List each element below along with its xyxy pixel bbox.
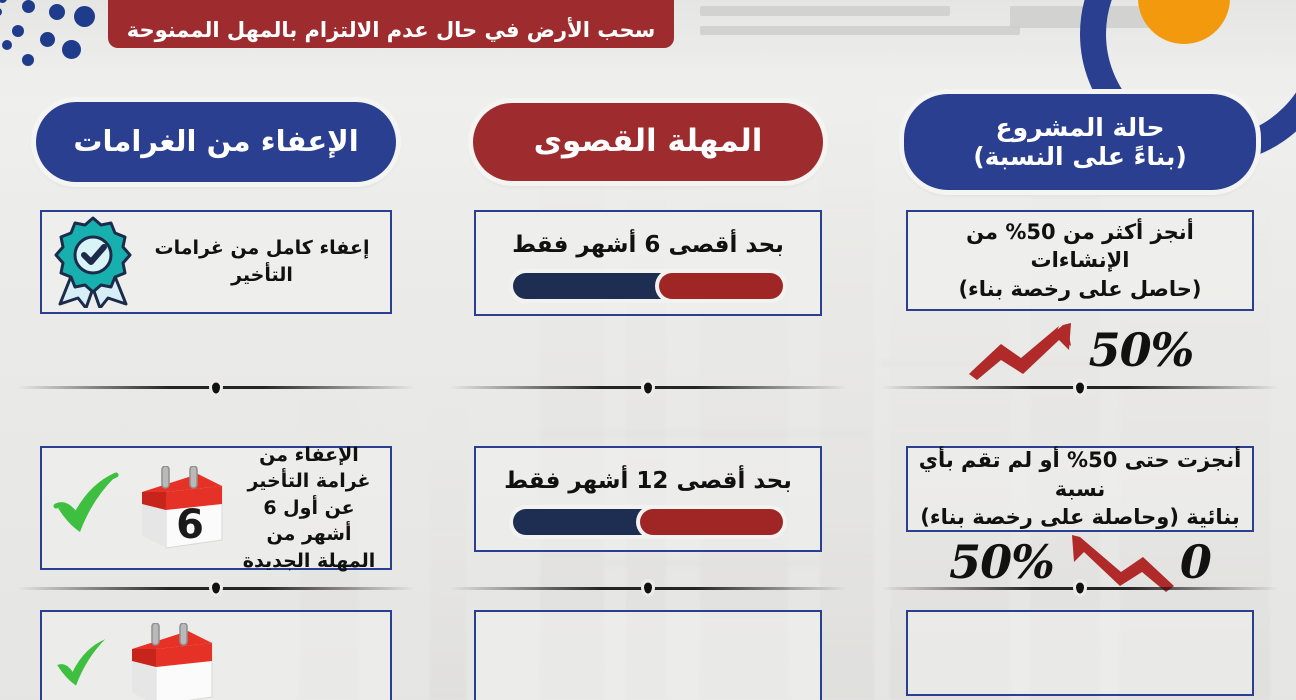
- progress-bar-track: [513, 273, 783, 299]
- exemption-text: إعفاء كامل من غرامات التأخير: [144, 235, 380, 288]
- header-exemption: الإعفاء من الغرامات: [36, 102, 396, 182]
- row3-deadline-cell: [432, 606, 864, 700]
- row2-divider-deadline: [432, 570, 864, 700]
- green-check-icon: [52, 470, 122, 546]
- row3-status-cell: [864, 606, 1296, 696]
- section-divider: [17, 386, 414, 389]
- deadline-box: [474, 610, 822, 700]
- spacer-right: [0, 314, 432, 386]
- header-status-line2: (بناءً على النسبة): [973, 142, 1187, 171]
- percent-value-right: 50%: [1089, 323, 1194, 377]
- row2-exemption-cell: الإعفاء من غرامة التأخير عن أول 6 أشهر م…: [0, 442, 432, 570]
- progress-bar-track: [513, 509, 783, 535]
- status-box: أنجزت حتى 50% أو لم تقم بأي نسبة بنائية …: [906, 446, 1254, 532]
- header-status-line1: حالة المشروع: [996, 113, 1165, 142]
- row2-divider-status: [864, 570, 1296, 700]
- row2-divider-exemption: [0, 570, 432, 700]
- divider-row: [432, 570, 864, 606]
- row2-status-cell: أنجزت حتى 50% أو لم تقم بأي نسبة بنائية …: [864, 442, 1296, 570]
- section-divider: [17, 587, 414, 590]
- section-divider: [881, 386, 1278, 389]
- progress-bar-fill: [640, 509, 783, 535]
- header-status: حالة المشروع (بناءً على النسبة): [904, 94, 1256, 190]
- status-line1: أنجز أكثر من 50% من الإنشاءات: [918, 218, 1242, 275]
- row1-divider-cell-mid: [432, 314, 864, 442]
- section-divider: [449, 386, 846, 389]
- exemption-box: الإعفاء من غرامة التأخير عن أول 6 أشهر م…: [40, 446, 392, 570]
- row2-deadline-cell: بحد أقصى 12 أشهر فقط: [432, 442, 864, 570]
- deadline-box: بحد أقصى 12 أشهر فقط: [474, 446, 822, 552]
- status-line1: أنجزت حتى 50% أو لم تقم بأي نسبة: [918, 446, 1242, 503]
- infographic-page: سحب الأرض في حال عدم الالتزام بالمهل الم…: [0, 0, 1296, 700]
- divider-row: [864, 570, 1296, 606]
- section-divider: [449, 587, 846, 590]
- header-deadline: المهلة القصوى: [473, 103, 823, 181]
- divider-row: [0, 570, 432, 606]
- status-box: أنجز أكثر من 50% من الإنشاءات (حاصل على …: [906, 210, 1254, 311]
- content-grid: حالة المشروع (بناءً على النسبة) المهلة ا…: [0, 0, 1296, 700]
- status-line2: بنائية (وحاصلة على رخصة بناء): [920, 503, 1240, 531]
- calendar-6-icon: 6: [132, 466, 228, 550]
- divider-row: [0, 386, 432, 389]
- calendar-icon: [122, 623, 218, 700]
- header-cell-exemption: الإعفاء من الغرامات: [0, 78, 432, 206]
- row3-exemption-cell: [0, 606, 432, 700]
- status-box: [906, 610, 1254, 696]
- spacer-mid: [432, 314, 864, 386]
- exemption-text: الإعفاء من غرامة التأخير عن أول 6 أشهر م…: [238, 442, 380, 575]
- row1-divider-cell-right: [0, 314, 432, 442]
- header-cell-status: حالة المشروع (بناءً على النسبة): [864, 78, 1296, 206]
- top-banner: سحب الأرض في حال عدم الالتزام بالمهل الم…: [108, 0, 674, 48]
- row1-exemption-cell: إعفاء كامل من غرامات التأخير: [0, 206, 432, 314]
- progress-bar-fill: [659, 273, 783, 299]
- exemption-box: [40, 610, 392, 700]
- arrow-up-right-icon: [967, 320, 1085, 380]
- status-line2: (حاصل على رخصة بناء): [958, 275, 1201, 303]
- svg-text:6: 6: [176, 502, 204, 548]
- section-divider: [881, 587, 1278, 590]
- divider-row: [432, 386, 864, 389]
- row1-status-cell: أنجز أكثر من 50% من الإنشاءات (حاصل على …: [864, 206, 1296, 314]
- header-cell-deadline: المهلة القصوى: [432, 78, 864, 206]
- row1-indicator-cell: 50%: [864, 314, 1296, 442]
- award-badge-icon: [52, 216, 134, 308]
- deadline-text: بحد أقصى 12 أشهر فقط: [504, 467, 792, 497]
- deadline-box: بحد أقصى 6 أشهر فقط: [474, 210, 822, 316]
- exemption-box: إعفاء كامل من غرامات التأخير: [40, 210, 392, 314]
- divider-row: [864, 386, 1296, 389]
- percent-indicator: 50%: [864, 314, 1296, 386]
- top-banner-text: سحب الأرض في حال عدم الالتزام بالمهل الم…: [127, 19, 656, 42]
- green-check-icon: [52, 632, 112, 698]
- row1-deadline-cell: بحد أقصى 6 أشهر فقط: [432, 206, 864, 314]
- deadline-text: بحد أقصى 6 أشهر فقط: [512, 231, 784, 261]
